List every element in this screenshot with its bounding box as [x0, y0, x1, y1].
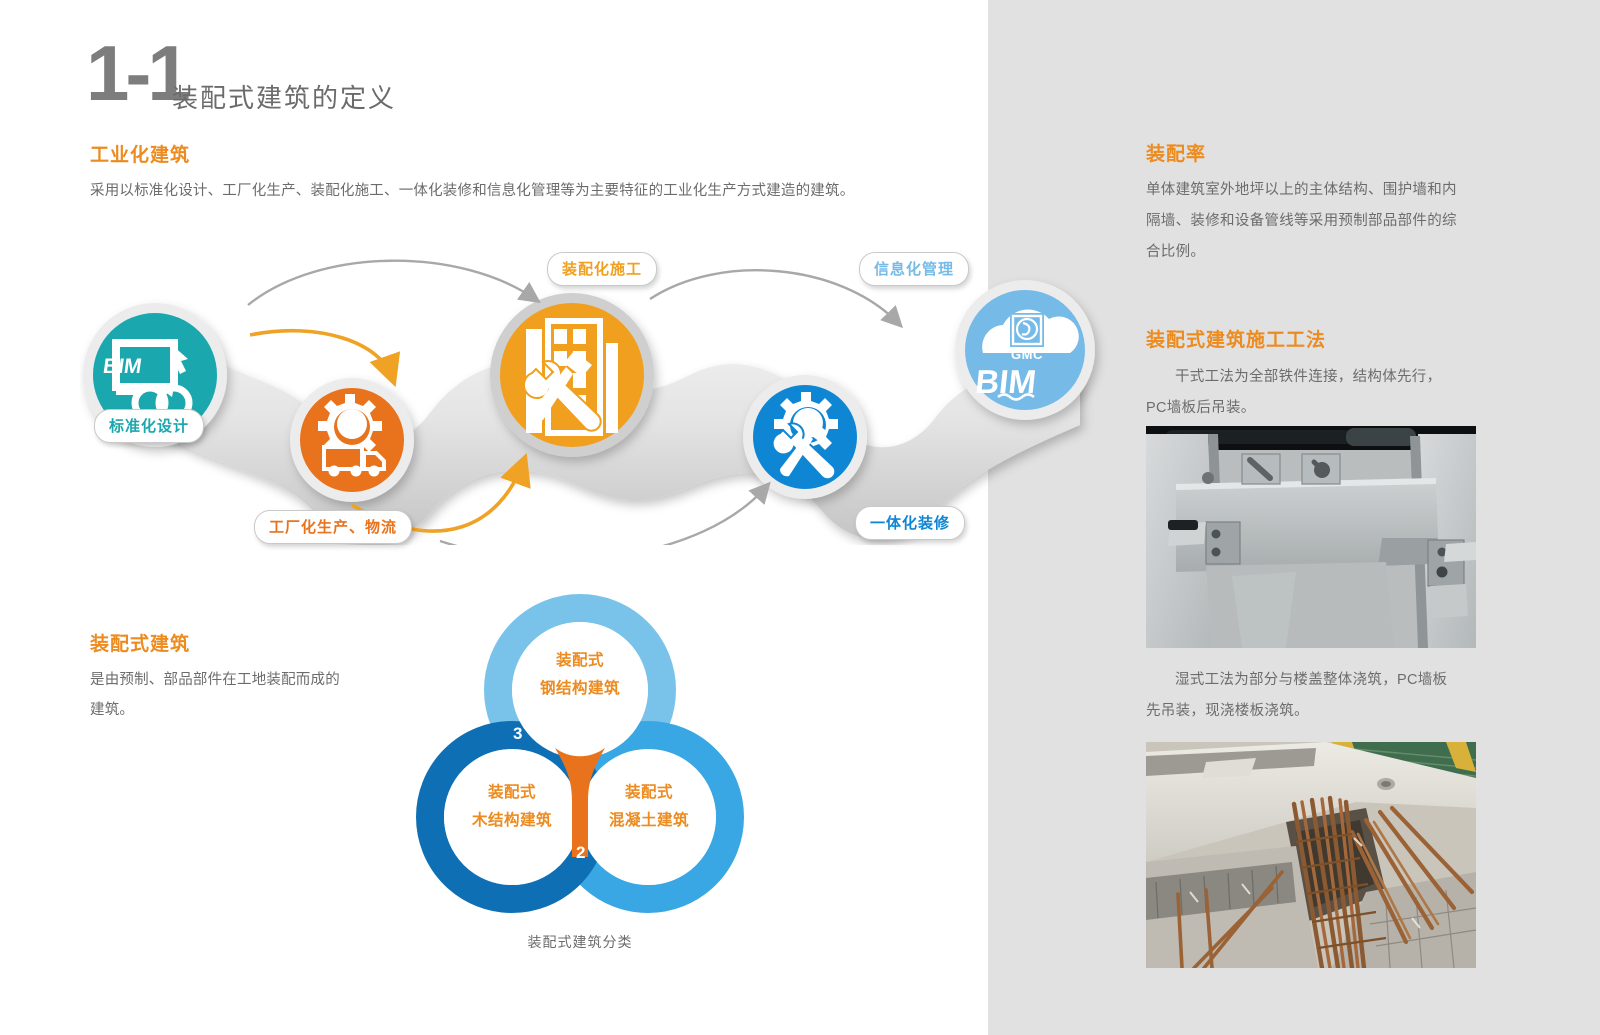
svg-text:BIM: BIM — [102, 355, 144, 378]
page-root: 装配率 单体建筑室外地坪以上的主体结构、围护墙和内 隔墙、装修和设备管线等采用预… — [0, 0, 1600, 1035]
paragraph-prefabricated-building-line2: 建筑。 — [90, 695, 410, 725]
venn-caption: 装配式建筑分类 — [400, 932, 760, 952]
flow-label-integrated-decoration[interactable]: 一体化装修 — [855, 506, 965, 540]
venn-label-line: 木结构建筑 — [441, 807, 583, 835]
heading-prefabricated-building: 装配式建筑 — [90, 629, 190, 656]
venn-label-line: 装配式 — [578, 779, 720, 807]
paragraph-prefabricated-building-line1: 是由预制、部品部件在工地装配而成的 — [90, 665, 410, 695]
flow-label-information-management[interactable]: 信息化管理 — [859, 252, 969, 286]
venn-number-2: 2 — [576, 843, 585, 863]
sidebar-line: 湿式工法为部分与楼盖整体浇筑，PC墙板 — [1146, 665, 1496, 696]
process-flow-diagram: BIM — [80, 225, 1140, 545]
sidebar-line: 干式工法为全部铁件连接，结构体先行， — [1146, 362, 1496, 393]
sidebar-heading-assembly-rate: 装配率 — [1146, 139, 1206, 166]
venn-label-line: 装配式 — [505, 647, 655, 675]
page-title: 装配式建筑的定义 — [172, 78, 396, 115]
venn-label-steel-structure: 装配式 钢结构建筑 — [505, 647, 655, 703]
sidebar-heading-construction-method: 装配式建筑施工工法 — [1146, 325, 1326, 352]
sidebar-line: 先吊装，现浇楼板浇筑。 — [1146, 696, 1496, 727]
flow-label-standardized-design[interactable]: 标准化设计 — [94, 409, 204, 443]
venn-number-1: 1 — [614, 725, 623, 745]
flow-label-factory-production[interactable]: 工厂化生产、物流 — [254, 510, 412, 544]
paragraph-industrialized-building: 采用以标准化设计、工厂化生产、装配化施工、一体化装修和信息化管理等为主要特征的工… — [90, 176, 920, 206]
flow-label-assembled-construction[interactable]: 装配化施工 — [547, 252, 657, 286]
sidebar-line: 隔墙、装修和设备管线等采用预制部品部件的综 — [1146, 206, 1496, 237]
sidebar-paragraph-dry-method: 干式工法为全部铁件连接，结构体先行， PC墙板后吊装。 — [1146, 362, 1496, 424]
sidebar-paragraph-assembly-rate: 单体建筑室外地坪以上的主体结构、围护墙和内 隔墙、装修和设备管线等采用预制部品部… — [1146, 175, 1496, 268]
wet-method-rebar-photo — [1146, 742, 1476, 968]
sidebar-line: 单体建筑室外地坪以上的主体结构、围护墙和内 — [1146, 175, 1496, 206]
sidebar-paragraph-wet-method: 湿式工法为部分与楼盖整体浇筑，PC墙板 先吊装，现浇楼板浇筑。 — [1146, 665, 1496, 727]
svg-text:GMC: GMC — [1011, 347, 1043, 362]
venn-number-3: 3 — [513, 724, 522, 744]
venn-label-concrete: 装配式 混凝土建筑 — [578, 779, 720, 835]
sidebar-line: PC墙板后吊装。 — [1146, 393, 1496, 424]
heading-industrialized-building: 工业化建筑 — [90, 140, 190, 167]
building-classification-diagram: 3 1 2 装配式 钢结构建筑 装配式 混凝土建筑 装配式 木结构建筑 — [400, 585, 760, 965]
venn-label-line: 装配式 — [441, 779, 583, 807]
venn-label-line: 混凝土建筑 — [578, 807, 720, 835]
dry-method-pc-wall-photo — [1146, 426, 1476, 648]
sidebar-line: 合比例。 — [1146, 237, 1496, 268]
venn-label-line: 钢结构建筑 — [505, 675, 655, 703]
venn-label-timber: 装配式 木结构建筑 — [441, 779, 583, 835]
